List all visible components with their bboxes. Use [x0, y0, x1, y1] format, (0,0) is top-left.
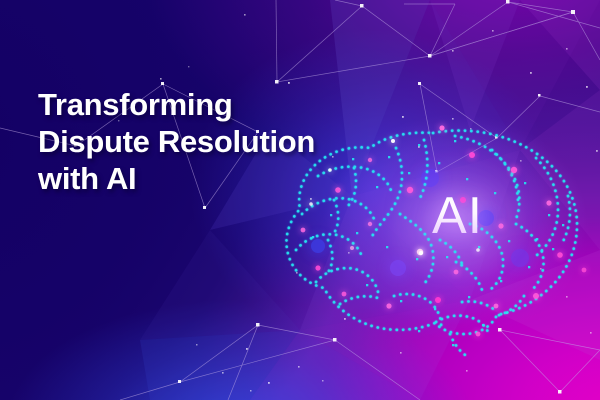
hero-banner: AI Transforming Dispute Resolution with … [0, 0, 600, 400]
ai-label: AI [432, 190, 483, 242]
headline-line-1: Transforming [38, 86, 378, 123]
headline-line-2: Dispute Resolution [38, 123, 378, 160]
headline-line-3: with AI [38, 160, 378, 197]
ai-brain-illustration [0, 0, 600, 400]
page-title: Transforming Dispute Resolution with AI [38, 86, 378, 197]
